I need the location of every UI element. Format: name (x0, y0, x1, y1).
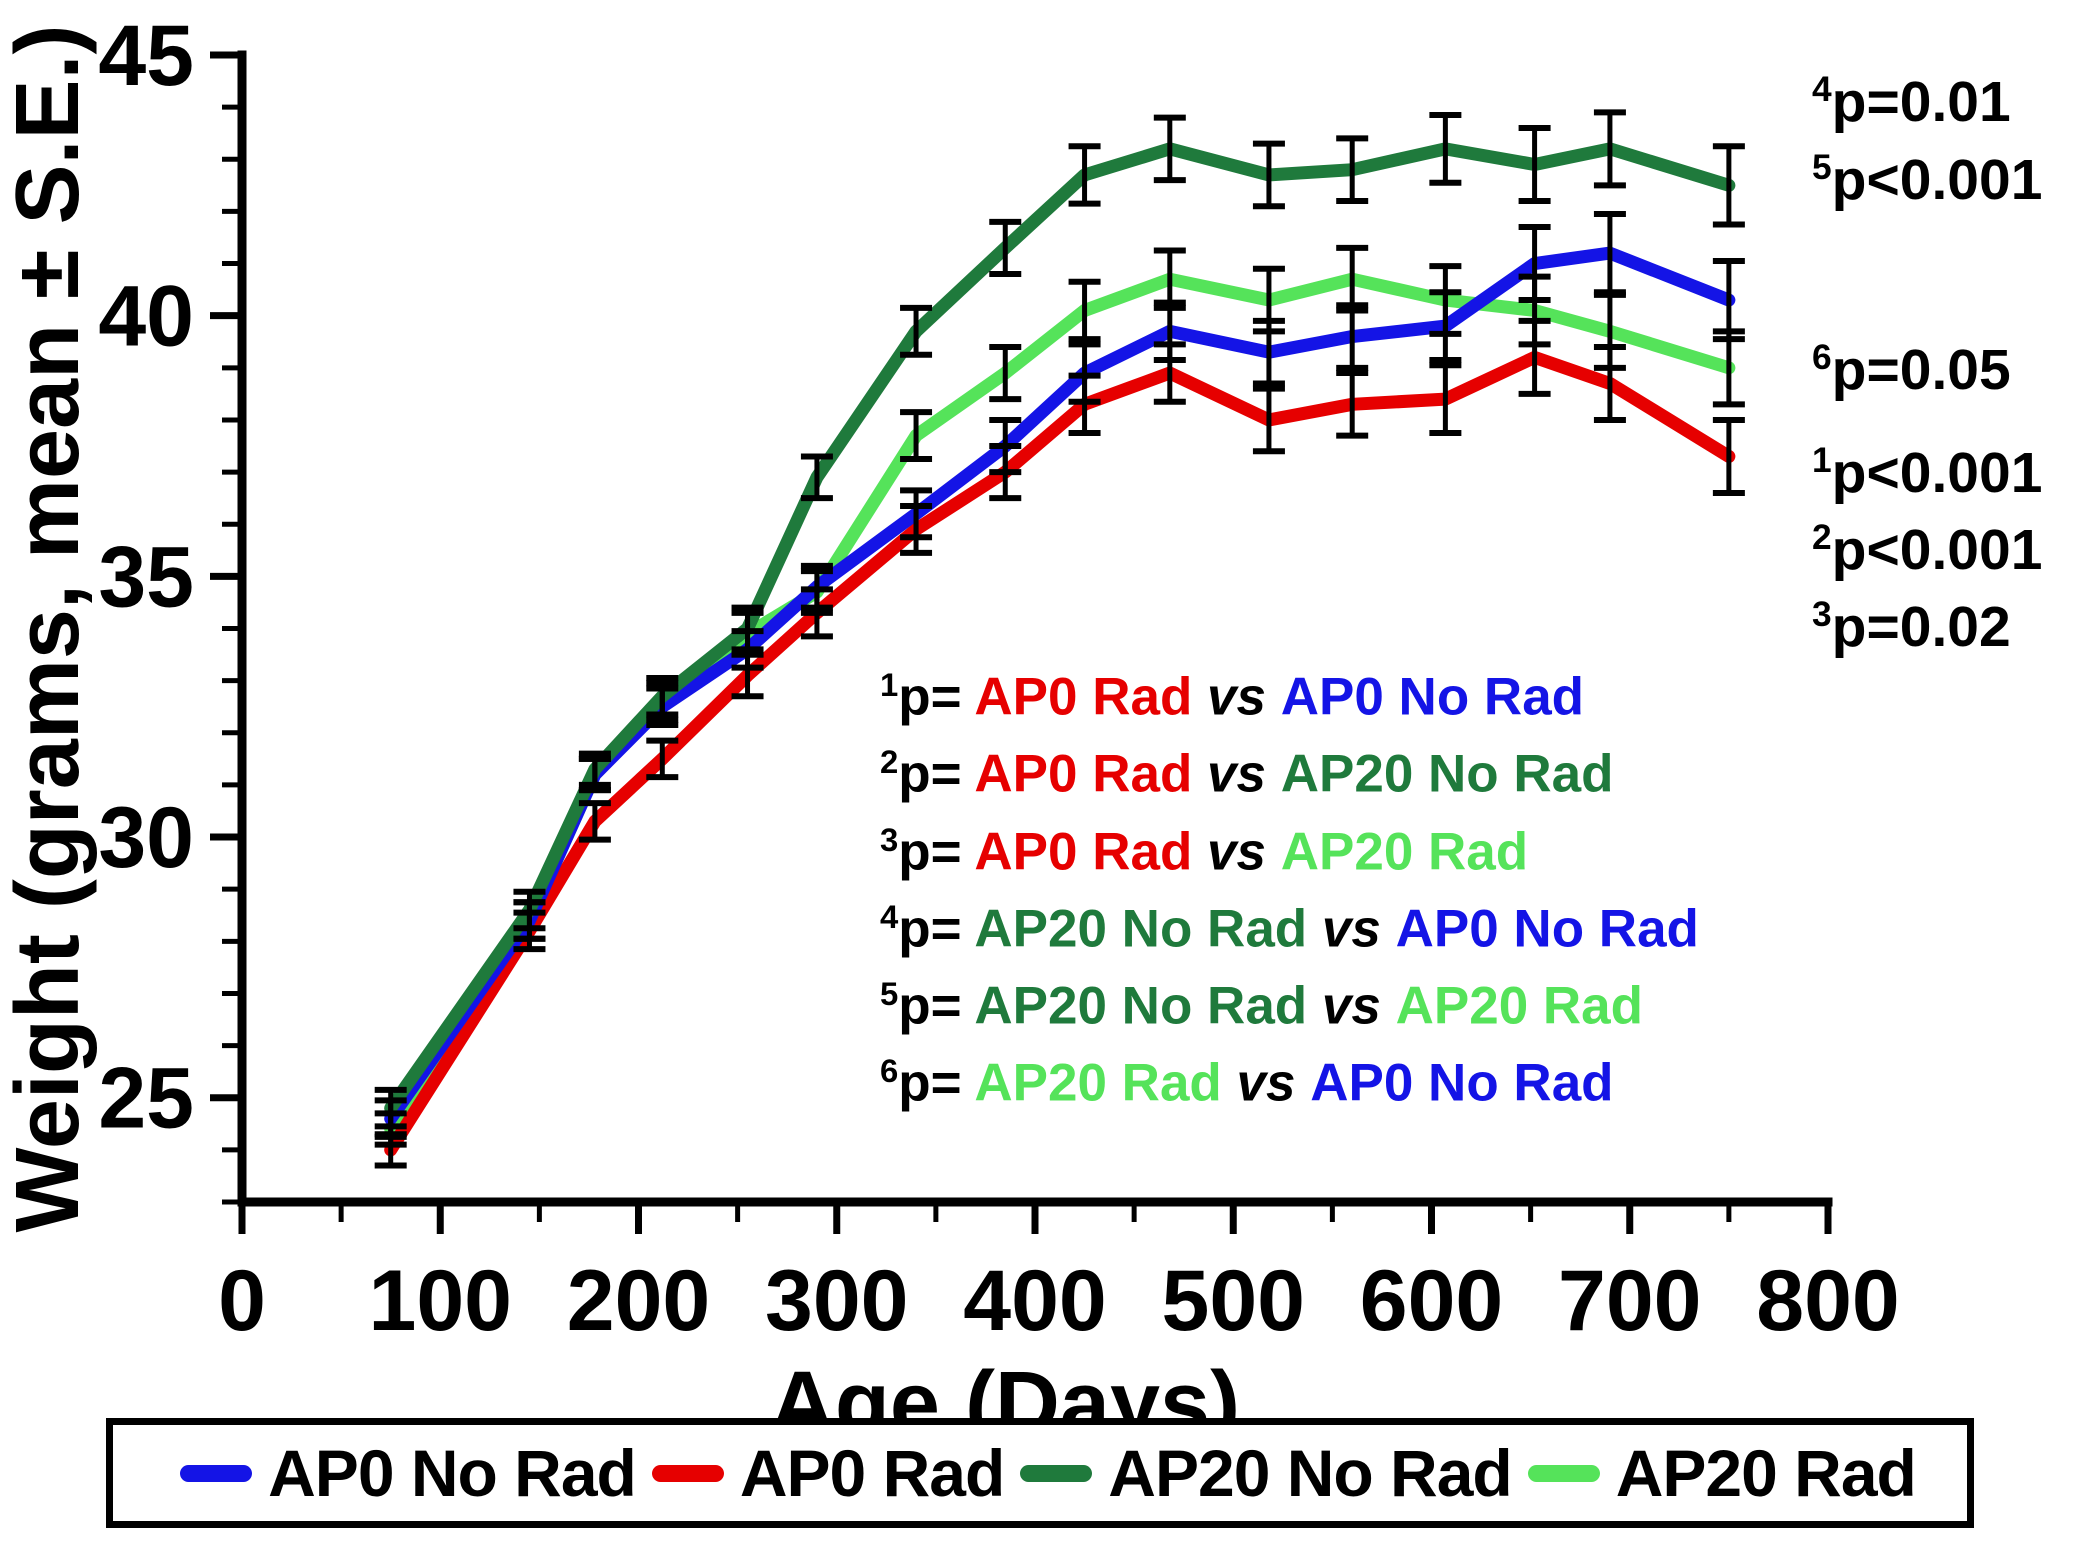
pvalue-note-5: 5p<0.001 (1812, 150, 2042, 209)
comparison-right-group: AP20 Rad (1396, 977, 1643, 1036)
comparison-vs: vs (1307, 900, 1395, 959)
y-tick-label: 40 (98, 269, 194, 365)
pvalue-note-2-text: p<0.001 (1832, 518, 2043, 582)
comparison-sup-3: 3 (880, 821, 898, 858)
comparison-left-group: AP0 Rad (974, 668, 1192, 727)
pvalue-note-6-text: p=0.05 (1832, 338, 2011, 402)
pvalue-note-4-sup: 4 (1812, 70, 1832, 109)
comparison-left-group: AP20 No Rad (974, 900, 1307, 959)
pvalue-note-2-sup: 2 (1812, 518, 1832, 557)
pvalue-note-3-text: p=0.02 (1832, 595, 2011, 659)
pvalue-note-1-text: p<0.001 (1832, 441, 2043, 505)
comparison-right-group: AP0 No Rad (1281, 668, 1584, 727)
legend-label: AP0 Rad (740, 1435, 1004, 1511)
pvalue-note-4-text: p=0.01 (1832, 70, 2011, 134)
comparison-left-group: AP0 Rad (974, 745, 1192, 804)
pvalue-note-3: 3p=0.02 (1812, 597, 2011, 656)
comparison-prefix: p= (898, 745, 974, 804)
pvalue-note-5-text: p<0.001 (1832, 148, 2043, 212)
comparison-right-group: AP0 No Rad (1396, 900, 1699, 959)
x-tick-label: 200 (567, 1253, 711, 1349)
x-tick-label: 400 (963, 1253, 1107, 1349)
comparison-left-group: AP20 Rad (974, 1054, 1221, 1113)
pvalue-note-5-sup: 5 (1812, 148, 1832, 187)
comparison-sup-1: 1 (880, 666, 898, 703)
comparison-prefix: p= (898, 977, 974, 1036)
y-tick-label: 30 (98, 790, 194, 886)
comparison-row-4: 4p= AP20 No Rad vs AP0 No Rad (880, 900, 1840, 957)
x-tick-label: 800 (1756, 1253, 1900, 1349)
x-tick-label: 500 (1162, 1253, 1306, 1349)
x-tick-label: 700 (1558, 1253, 1702, 1349)
legend-label: AP20 No Rad (1108, 1435, 1511, 1511)
comparison-vs: vs (1192, 745, 1280, 804)
y-tick-label: 35 (98, 529, 194, 625)
comparison-right-group: AP20 Rad (1281, 822, 1528, 881)
comparison-right-group: AP0 No Rad (1310, 1054, 1613, 1113)
pvalue-note-4: 4p=0.01 (1812, 72, 2011, 131)
legend-label: AP0 No Rad (268, 1435, 636, 1511)
comparison-row-1: 1p= AP0 Rad vs AP0 No Rad (880, 668, 1840, 725)
comparison-vs: vs (1192, 668, 1280, 727)
weight-vs-age-figure: 25303540450100200300400500600700800Age (… (0, 0, 2084, 1566)
legend-item-ap0-rad[interactable]: AP0 Rad (636, 1435, 1004, 1511)
y-tick-label: 25 (98, 1051, 194, 1147)
legend-label: AP20 Rad (1616, 1435, 1916, 1511)
legend-item-ap20-rad[interactable]: AP20 Rad (1512, 1435, 1916, 1511)
series-legend-box: AP0 No RadAP0 RadAP20 No RadAP20 Rad (106, 1418, 1974, 1528)
comparison-sup-2: 2 (880, 743, 898, 780)
x-tick-label: 100 (369, 1253, 513, 1349)
legend-swatch-icon (180, 1465, 252, 1482)
x-tick-label: 300 (765, 1253, 909, 1349)
comparison-row-6: 6p= AP20 Rad vs AP0 No Rad (880, 1054, 1840, 1111)
comparison-sup-6: 6 (880, 1052, 898, 1089)
pvalue-note-1: 1p<0.001 (1812, 443, 2042, 502)
pvalue-note-3-sup: 3 (1812, 595, 1832, 634)
pvalue-note-6-sup: 6 (1812, 338, 1832, 377)
legend-swatch-icon (1528, 1465, 1600, 1482)
pvalue-note-6: 6p=0.05 (1812, 340, 2011, 399)
comparison-left-group: AP0 Rad (974, 822, 1192, 881)
comparison-prefix: p= (898, 1054, 974, 1113)
x-tick-label: 0 (218, 1253, 266, 1349)
y-tick-label: 45 (98, 8, 194, 104)
comparison-prefix: p= (898, 668, 974, 727)
comparison-right-group: AP20 No Rad (1281, 745, 1614, 804)
comparison-row-3: 3p= AP0 Rad vs AP20 Rad (880, 823, 1840, 880)
legend-item-ap0-no-rad[interactable]: AP0 No Rad (164, 1435, 636, 1511)
legend-swatch-icon (652, 1465, 724, 1482)
legend-swatch-icon (1020, 1465, 1092, 1482)
comparison-prefix: p= (898, 822, 974, 881)
comparison-vs: vs (1307, 977, 1395, 1036)
comparison-vs: vs (1192, 822, 1280, 881)
comparison-row-5: 5p= AP20 No Rad vs AP20 Rad (880, 977, 1840, 1034)
x-tick-label: 600 (1360, 1253, 1504, 1349)
comparison-vs: vs (1222, 1054, 1310, 1113)
comparison-sup-4: 4 (880, 898, 898, 935)
y-axis-title: Weight (grams, mean ± S.E.) (0, 25, 98, 1233)
comparison-left-group: AP20 No Rad (974, 977, 1307, 1036)
comparison-legend: 1p= AP0 Rad vs AP0 No Rad2p= AP0 Rad vs … (880, 668, 1840, 1132)
comparison-sup-5: 5 (880, 975, 898, 1012)
pvalue-note-2: 2p<0.001 (1812, 520, 2042, 579)
legend-item-ap20-no-rad[interactable]: AP20 No Rad (1004, 1435, 1511, 1511)
comparison-row-2: 2p= AP0 Rad vs AP20 No Rad (880, 745, 1840, 802)
comparison-prefix: p= (898, 900, 974, 959)
pvalue-note-1-sup: 1 (1812, 441, 1832, 480)
